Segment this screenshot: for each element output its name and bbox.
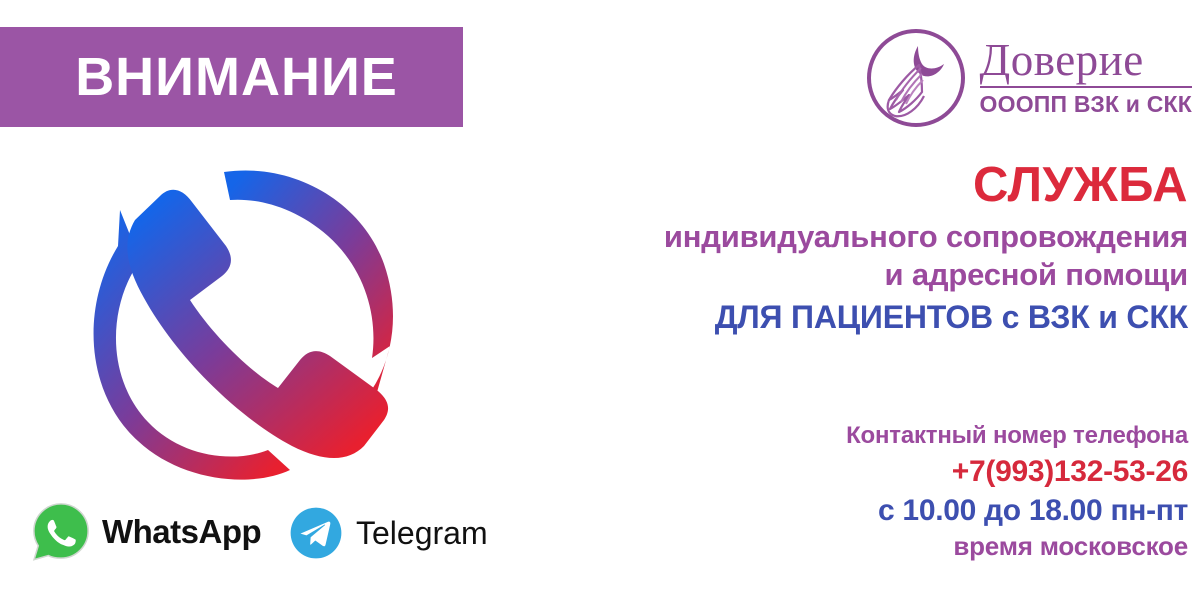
attention-banner-label: ВНИМАНИЕ (65, 50, 398, 104)
headline-subtitle-line-2: и адресной помощи (568, 256, 1188, 294)
brand-logo: Доверие ОООПП ВЗК и СКК (862, 24, 1192, 132)
phone-handset-with-arc-icon (72, 158, 412, 490)
contact-timezone: время московское (588, 530, 1188, 564)
attention-banner: ВНИМАНИЕ (0, 27, 463, 127)
whatsapp-icon (30, 501, 92, 563)
headline-subtitle-line-1: индивидуального сопровождения (568, 212, 1188, 256)
headline-audience-line: ДЛЯ ПАЦИЕНТОВ с ВЗК и СКК (568, 294, 1188, 339)
messenger-whatsapp[interactable]: WhatsApp (30, 501, 261, 563)
brand-wordmark: Доверие ОООПП ВЗК и СКК (980, 38, 1192, 117)
hand-with-leaf-circle-logo-icon (862, 24, 970, 132)
headline-main: СЛУЖБА (568, 160, 1188, 212)
messenger-whatsapp-label: WhatsApp (102, 513, 261, 551)
contact-working-hours: с 10.00 до 18.00 пн-пт (588, 491, 1188, 530)
poster-canvas: ВНИМАНИЕ (0, 0, 1200, 600)
contact-phone-number[interactable]: +7(993)132-53-26 (588, 452, 1188, 491)
telegram-icon (288, 505, 344, 561)
headline-block: СЛУЖБА индивидуального сопровождения и а… (568, 160, 1188, 338)
contact-block: Контактный номер телефона +7(993)132-53-… (588, 420, 1188, 564)
brand-name: Доверие (980, 38, 1192, 86)
brand-subtitle: ОООПП ВЗК и СКК (980, 88, 1192, 117)
messenger-telegram[interactable]: Telegram (288, 505, 488, 561)
messenger-list: WhatsApp Telegram (30, 495, 500, 585)
messenger-telegram-label: Telegram (356, 515, 488, 552)
contact-phone-label: Контактный номер телефона (588, 420, 1188, 452)
